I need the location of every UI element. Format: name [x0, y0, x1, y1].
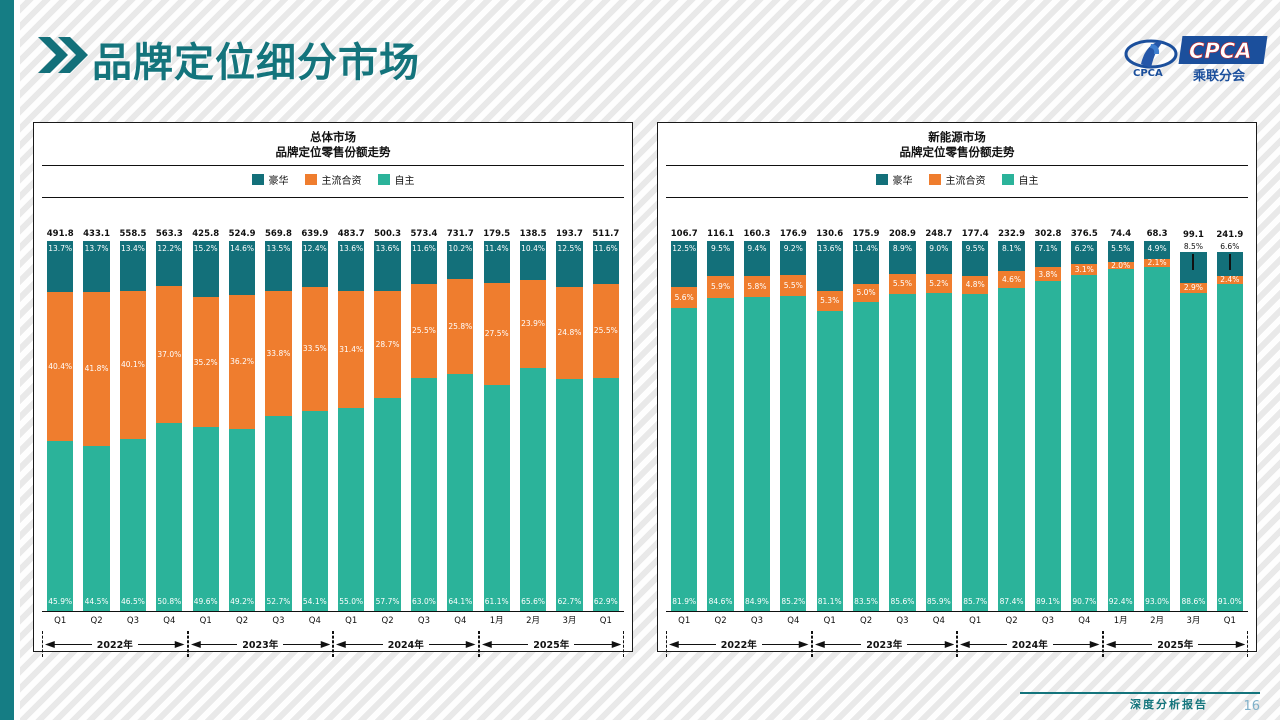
bar-segment-joint-venture[interactable]: 2.1%	[1144, 259, 1170, 267]
stacked-bar[interactable]: 13.7%41.8%44.5%	[83, 241, 109, 611]
x-axis-year-label: 2023年	[861, 637, 907, 651]
bar-segment-value: 63.0%	[412, 598, 436, 606]
legend-item-luxury[interactable]: 豪华	[876, 172, 913, 187]
bar-segment-joint-venture[interactable]: 5.5%	[889, 274, 915, 294]
stacked-bar[interactable]: 13.6%5.3%81.1%	[817, 241, 843, 611]
bar-segment-joint-venture[interactable]: 24.8%	[556, 287, 582, 379]
chart-legend-overall: 豪华 主流合资 自主	[34, 166, 632, 192]
bar-total-label: 302.8	[1034, 229, 1061, 239]
stacked-bar[interactable]: 2.9%88.6%	[1180, 252, 1206, 611]
bar-segment-luxury[interactable]: 7.1%	[1035, 241, 1061, 267]
x-tick-label: Q1	[333, 611, 369, 631]
bar-segment-value: 13.7%	[48, 245, 72, 253]
x-tick-label: Q4	[442, 611, 478, 631]
bar-segment-value: 44.5%	[85, 598, 109, 606]
bar-segment-value: 49.2%	[230, 598, 254, 606]
bar-segment-joint-venture[interactable]: 3.8%	[1035, 267, 1061, 281]
x-axis-year-label: 2024年	[383, 637, 429, 651]
bar-segment-domestic[interactable]: 62.7%	[556, 379, 582, 611]
bar-column: 433.113.7%41.8%44.5%	[78, 198, 114, 611]
bar-segment-value: 4.9%	[1148, 245, 1167, 253]
bar-segment-joint-venture[interactable]: 5.8%	[744, 276, 770, 297]
bar-segment-value: 8.1%	[1002, 245, 1021, 253]
label-leader-line	[1229, 254, 1231, 270]
x-axis-ticks: Q1Q2Q3Q4Q1Q2Q3Q4Q1Q2Q3Q41月2月3月Q1	[42, 611, 624, 631]
bar-column: 138.510.4%23.9%65.6%	[515, 198, 551, 611]
bar-segment-joint-venture[interactable]: 36.2%	[229, 295, 255, 429]
bar-segment-domestic[interactable]: 88.6%	[1180, 293, 1206, 611]
bar-segment-luxury[interactable]: 8.1%	[998, 241, 1024, 271]
stacked-bar[interactable]: 5.5%2.0%92.4%	[1108, 241, 1134, 611]
bar-total-label: 177.4	[962, 229, 989, 239]
bar-total-label: 138.5	[520, 229, 547, 239]
bar-segment-value: 88.6%	[1182, 598, 1206, 606]
bar-segment-domestic[interactable]: 46.5%	[120, 439, 146, 611]
bar-segment-domestic[interactable]: 85.9%	[926, 293, 952, 611]
bar-segment-value: 10.4%	[521, 245, 545, 253]
bar-column: 208.98.9%5.5%85.6%	[884, 198, 920, 611]
bar-segment-joint-venture[interactable]: 5.3%	[817, 291, 843, 311]
x-tick-label: Q1	[812, 611, 848, 631]
x-axis-nev: Q1Q2Q3Q4Q1Q2Q3Q4Q1Q2Q3Q41月2月3月Q1 2022年20…	[658, 611, 1256, 669]
stacked-bar[interactable]: 6.2%3.1%90.7%	[1071, 241, 1097, 611]
bar-column: 130.613.6%5.3%81.1%	[812, 198, 848, 611]
bar-segment-joint-venture[interactable]: 2.9%	[1180, 283, 1206, 293]
bar-segment-value: 9.5%	[966, 245, 985, 253]
left-accent-bar-inner	[14, 0, 20, 720]
bar-segment-value: 25.5%	[412, 327, 436, 335]
bar-total-label: 241.9	[1216, 230, 1243, 240]
bar-segment-value: 28.7%	[376, 341, 400, 349]
bar-segment-luxury[interactable]: 10.4%	[520, 241, 546, 279]
bar-segment-domestic[interactable]: 84.6%	[707, 298, 733, 611]
bar-segment-value: 25.8%	[448, 323, 472, 331]
left-accent-bar	[0, 0, 14, 720]
page-title: 品牌定位细分市场	[92, 30, 420, 88]
bar-segment-luxury[interactable]: 14.6%	[229, 241, 255, 295]
bar-total-label: 179.5	[483, 229, 510, 239]
bar-segment-luxury[interactable]: 13.6%	[338, 241, 364, 291]
stacked-bar[interactable]: 9.2%5.5%85.2%	[780, 241, 806, 611]
bar-total-label: 731.7	[447, 229, 474, 239]
bar-segment-joint-venture[interactable]: 5.2%	[926, 274, 952, 293]
bar-column: 232.98.1%4.6%87.4%	[993, 198, 1029, 611]
bar-segment-value: 33.5%	[303, 345, 327, 353]
legend-item-domestic[interactable]: 自主	[378, 172, 415, 187]
bar-segment-domestic[interactable]: 91.0%	[1217, 284, 1243, 611]
bar-segment-value: 91.0%	[1218, 598, 1242, 606]
bar-segment-value: 13.5%	[267, 245, 291, 253]
bar-segment-joint-venture[interactable]: 5.5%	[780, 275, 806, 295]
slide-footer: 深度分析报告 16	[0, 680, 1280, 720]
bar-total-label: 74.4	[1110, 229, 1131, 239]
x-tick-label: 3月	[1175, 611, 1211, 631]
legend-swatch-luxury	[252, 174, 264, 185]
bar-segment-domestic[interactable]: 90.7%	[1071, 275, 1097, 611]
bar-segment-domestic[interactable]: 54.1%	[302, 411, 328, 611]
bar-segment-luxury[interactable]	[1180, 252, 1206, 283]
bar-segment-value: 2.4%	[1220, 276, 1239, 284]
bar-column: 68.34.9%2.1%93.0%	[1139, 198, 1175, 611]
bar-segment-luxury[interactable]: 9.5%	[707, 241, 733, 276]
bar-segment-value: 89.1%	[1036, 598, 1060, 606]
x-tick-label: Q1	[42, 611, 78, 631]
bar-segment-luxury[interactable]: 13.6%	[817, 241, 843, 291]
bar-column: 176.99.2%5.5%85.2%	[775, 198, 811, 611]
bar-segment-value: 31.4%	[339, 346, 363, 354]
slide-header: 品牌定位细分市场 CPCA CPCA 乘联分会	[0, 0, 1280, 105]
stacked-bar[interactable]: 10.2%25.8%64.1%	[447, 241, 473, 611]
bar-column: 241.96.6%2.4%91.0%	[1212, 198, 1248, 611]
bar-column: 573.411.6%25.5%63.0%	[406, 198, 442, 611]
stacked-bar[interactable]: 11.4%5.0%83.5%	[853, 241, 879, 611]
bar-segment-domestic[interactable]: 64.1%	[447, 374, 473, 611]
bar-segment-joint-venture[interactable]: 4.6%	[998, 271, 1024, 288]
stacked-bar[interactable]: 13.4%40.1%46.5%	[120, 241, 146, 611]
bar-outside-label: 8.5%	[1184, 242, 1203, 251]
bar-segment-luxury[interactable]: 9.0%	[926, 241, 952, 274]
bar-segment-joint-venture[interactable]: 5.0%	[853, 284, 879, 303]
stacked-bar[interactable]: 4.9%2.1%93.0%	[1144, 241, 1170, 611]
x-axis-year-group: 2022年	[666, 631, 812, 657]
bar-segment-value: 85.9%	[927, 598, 951, 606]
x-tick-label: Q3	[406, 611, 442, 631]
bar-segment-domestic[interactable]: 81.9%	[671, 308, 697, 611]
bar-segment-domestic[interactable]: 63.0%	[411, 378, 437, 611]
bar-segment-joint-venture[interactable]: 35.2%	[193, 297, 219, 427]
bar-segment-joint-venture[interactable]: 25.8%	[447, 279, 473, 374]
bar-segment-value: 52.7%	[267, 598, 291, 606]
bar-total-label: 511.7	[592, 229, 619, 239]
bar-total-label: 376.5	[1071, 229, 1098, 239]
bar-segment-joint-venture[interactable]: 33.8%	[265, 291, 291, 416]
bar-segment-value: 85.6%	[891, 598, 915, 606]
bar-segment-joint-venture[interactable]: 28.7%	[374, 291, 400, 397]
x-tick-label: Q1	[1212, 611, 1248, 631]
bar-total-label: 160.3	[743, 229, 770, 239]
bar-segment-value: 9.0%	[929, 245, 948, 253]
bar-segment-luxury[interactable]: 9.2%	[780, 241, 806, 275]
x-axis-year-groups: 2022年2023年2024年2025年	[666, 631, 1248, 657]
bar-segment-domestic[interactable]: 85.2%	[780, 296, 806, 611]
stacked-bar[interactable]: 11.6%25.5%63.0%	[411, 241, 437, 611]
x-axis-year-groups: 2022年2023年2024年2025年	[42, 631, 624, 657]
bar-segment-value: 15.2%	[194, 245, 218, 253]
stacked-bar[interactable]: 8.1%4.6%87.4%	[998, 241, 1024, 611]
stacked-bar[interactable]: 8.9%5.5%85.6%	[889, 241, 915, 611]
x-tick-label: Q1	[588, 611, 624, 631]
bar-segment-joint-venture[interactable]: 25.5%	[411, 284, 437, 378]
bar-segment-luxury[interactable]: 6.2%	[1071, 241, 1097, 264]
bar-segment-value: 25.5%	[594, 327, 618, 335]
bar-segment-value: 33.8%	[267, 350, 291, 358]
x-tick-label: 1月	[479, 611, 515, 631]
stacked-bar[interactable]: 12.4%33.5%54.1%	[302, 241, 328, 611]
bar-column: 483.713.6%31.4%55.0%	[333, 198, 369, 611]
bar-total-label: 248.7	[925, 229, 952, 239]
bar-segment-domestic[interactable]: 85.7%	[962, 294, 988, 611]
x-axis-year-group: 2025年	[479, 631, 625, 657]
bar-segment-domestic[interactable]: 50.8%	[156, 423, 182, 611]
bar-segment-joint-venture[interactable]: 31.4%	[338, 291, 364, 407]
bar-column: 491.813.7%40.4%45.9%	[42, 198, 78, 611]
bar-segment-luxury[interactable]: 12.5%	[671, 241, 697, 287]
x-tick-label: Q4	[297, 611, 333, 631]
bar-segment-joint-venture[interactable]: 5.6%	[671, 287, 697, 308]
bar-segment-domestic[interactable]: 85.6%	[889, 294, 915, 611]
bar-segment-joint-venture[interactable]: 5.9%	[707, 276, 733, 298]
bar-segment-value: 50.8%	[157, 598, 181, 606]
bar-segment-luxury[interactable]: 11.4%	[853, 241, 879, 283]
x-axis-year-group: 2024年	[333, 631, 479, 657]
bar-segment-domestic[interactable]: 55.0%	[338, 408, 364, 612]
bar-segment-value: 14.6%	[230, 245, 254, 253]
bar-segment-joint-venture[interactable]: 23.9%	[520, 280, 546, 368]
chart-title-nev: 新能源市场 品牌定位零售份额走势	[658, 123, 1256, 160]
bar-segment-luxury[interactable]: 11.4%	[484, 241, 510, 283]
bar-segment-value: 5.6%	[675, 294, 694, 302]
bar-segment-value: 12.5%	[672, 245, 696, 253]
bar-segment-value: 5.2%	[929, 280, 948, 288]
bar-segment-value: 84.6%	[709, 598, 733, 606]
bar-segment-joint-venture[interactable]: 25.5%	[593, 284, 619, 378]
bar-segment-joint-venture[interactable]: 41.8%	[83, 292, 109, 447]
stacked-bar[interactable]: 11.4%27.5%61.1%	[484, 241, 510, 611]
svg-text:CPCA: CPCA	[1133, 68, 1163, 79]
legend-item-joint-venture[interactable]: 主流合资	[305, 172, 362, 187]
bar-segment-luxury[interactable]: 13.6%	[374, 241, 400, 291]
chart-panel-nev: 新能源市场 品牌定位零售份额走势 豪华 主流合资 自主 106.712.5%5.…	[657, 122, 1257, 652]
bar-segment-value: 6.2%	[1075, 245, 1094, 253]
bar-segment-domestic[interactable]: 62.9%	[593, 378, 619, 611]
bar-segment-domestic[interactable]: 57.7%	[374, 398, 400, 611]
bar-segment-domestic[interactable]: 65.6%	[520, 368, 546, 611]
bar-segment-domestic[interactable]: 45.9%	[47, 441, 73, 611]
bar-segment-domestic[interactable]: 92.4%	[1108, 269, 1134, 611]
x-tick-label: Q3	[115, 611, 151, 631]
legend-swatch-joint-venture	[929, 174, 941, 185]
legend-label-domestic: 自主	[395, 172, 415, 187]
stacked-bar[interactable]: 14.6%36.2%49.2%	[229, 241, 255, 611]
bar-segment-value: 3.8%	[1038, 271, 1057, 279]
bar-segment-value: 84.9%	[745, 598, 769, 606]
bar-segment-domestic[interactable]: 61.1%	[484, 385, 510, 611]
bar-segment-domestic[interactable]: 49.2%	[229, 429, 255, 611]
bar-segment-value: 35.2%	[194, 359, 218, 367]
bar-total-label: 193.7	[556, 229, 583, 239]
bar-segment-value: 27.5%	[485, 330, 509, 338]
bar-segment-value: 62.7%	[558, 598, 582, 606]
stacked-bar[interactable]: 13.5%33.8%52.7%	[265, 241, 291, 611]
bar-segment-luxury[interactable]: 11.6%	[411, 241, 437, 284]
stacked-bar[interactable]: 12.5%24.8%62.7%	[556, 241, 582, 611]
bar-segment-luxury[interactable]: 4.9%	[1144, 241, 1170, 259]
bar-segment-joint-venture[interactable]: 33.5%	[302, 287, 328, 411]
bar-column: 106.712.5%5.6%81.9%	[666, 198, 702, 611]
bar-total-label: 106.7	[671, 229, 698, 239]
bar-segment-joint-venture[interactable]: 2.4%	[1217, 276, 1243, 285]
bar-segment-value: 85.2%	[781, 598, 805, 606]
stacked-bar[interactable]: 13.6%28.7%57.7%	[374, 241, 400, 611]
bar-segment-value: 93.0%	[1145, 598, 1169, 606]
bar-column: 160.39.4%5.8%84.9%	[739, 198, 775, 611]
bar-column: 116.19.5%5.9%84.6%	[702, 198, 738, 611]
bar-segment-value: 62.9%	[594, 598, 618, 606]
svg-text:CPCA: CPCA	[1189, 39, 1251, 63]
bar-segment-joint-venture[interactable]: 2.0%	[1108, 262, 1134, 269]
bar-segment-value: 5.0%	[857, 289, 876, 297]
bar-segment-value: 4.6%	[1002, 276, 1021, 284]
bar-total-label: 558.5	[119, 229, 146, 239]
bar-segment-domestic[interactable]: 87.4%	[998, 288, 1024, 611]
svg-text:乘联分会: 乘联分会	[1192, 68, 1246, 84]
bar-segment-value: 55.0%	[339, 598, 363, 606]
bar-total-label: 569.8	[265, 229, 292, 239]
bar-segment-value: 13.6%	[339, 245, 363, 253]
bar-segment-luxury[interactable]: 5.5%	[1108, 241, 1134, 261]
bar-total-label: 232.9	[998, 229, 1025, 239]
bar-segment-value: 2.1%	[1148, 259, 1167, 267]
bar-total-label: 524.9	[229, 229, 256, 239]
bar-segment-value: 37.0%	[157, 351, 181, 359]
bar-column: 524.914.6%36.2%49.2%	[224, 198, 260, 611]
bar-segment-joint-venture[interactable]: 27.5%	[484, 283, 510, 385]
bar-segment-value: 11.4%	[485, 245, 509, 253]
bar-segment-value: 13.6%	[818, 245, 842, 253]
bar-segment-joint-venture[interactable]: 3.1%	[1071, 264, 1097, 275]
bar-column: 425.815.2%35.2%49.6%	[188, 198, 224, 611]
bar-segment-value: 90.7%	[1072, 598, 1096, 606]
bar-segment-luxury[interactable]: 8.9%	[889, 241, 915, 274]
bar-segment-luxury[interactable]: 10.2%	[447, 241, 473, 279]
bar-segment-value: 92.4%	[1109, 598, 1133, 606]
legend-swatch-joint-venture	[305, 174, 317, 185]
bar-segment-value: 13.7%	[85, 245, 109, 253]
stacked-bar[interactable]: 2.4%91.0%	[1217, 252, 1243, 611]
bar-segment-joint-venture[interactable]: 37.0%	[156, 286, 182, 423]
x-tick-label: 1月	[1103, 611, 1139, 631]
bar-segment-domestic[interactable]: 89.1%	[1035, 281, 1061, 611]
x-axis-overall: Q1Q2Q3Q4Q1Q2Q3Q4Q1Q2Q3Q41月2月3月Q1 2022年20…	[34, 611, 632, 669]
bar-segment-value: 5.5%	[1111, 245, 1130, 253]
stacked-bar[interactable]: 12.5%5.6%81.9%	[671, 241, 697, 611]
chart-title-overall: 总体市场 品牌定位零售份额走势	[34, 123, 632, 160]
bar-column: 563.312.2%37.0%50.8%	[151, 198, 187, 611]
x-tick-label: Q2	[848, 611, 884, 631]
x-tick-label: Q3	[260, 611, 296, 631]
bar-segment-domestic[interactable]: 83.5%	[853, 302, 879, 611]
bar-segment-luxury[interactable]: 11.6%	[593, 241, 619, 284]
bar-segment-value: 57.7%	[376, 598, 400, 606]
bar-segment-value: 85.7%	[963, 598, 987, 606]
x-tick-label: Q2	[224, 611, 260, 631]
x-axis-year-group: 2025年	[1103, 631, 1249, 657]
legend-item-joint-venture[interactable]: 主流合资	[929, 172, 986, 187]
stacked-bar[interactable]: 11.6%25.5%62.9%	[593, 241, 619, 611]
bar-segment-luxury[interactable]: 9.5%	[962, 241, 988, 276]
bar-segment-luxury[interactable]: 13.7%	[83, 241, 109, 292]
bar-total-label: 176.9	[780, 229, 807, 239]
stacked-bar[interactable]: 15.2%35.2%49.6%	[193, 241, 219, 611]
bar-segment-luxury[interactable]: 13.5%	[265, 241, 291, 291]
bar-segment-value: 11.6%	[412, 245, 436, 253]
bar-segment-luxury[interactable]: 12.2%	[156, 241, 182, 286]
stacked-bar[interactable]: 9.5%5.9%84.6%	[707, 241, 733, 611]
bar-segment-value: 13.4%	[121, 245, 145, 253]
x-tick-label: Q2	[702, 611, 738, 631]
legend-item-luxury[interactable]: 豪华	[252, 172, 289, 187]
footer-rule	[1020, 692, 1260, 694]
bar-segment-domestic[interactable]: 49.6%	[193, 427, 219, 611]
bar-segment-domestic[interactable]: 84.9%	[744, 297, 770, 611]
bar-segment-value: 11.4%	[854, 245, 878, 253]
chart-legend-nev: 豪华 主流合资 自主	[658, 166, 1256, 192]
stacked-bar[interactable]: 12.2%37.0%50.8%	[156, 241, 182, 611]
bar-total-label: 130.6	[816, 229, 843, 239]
bar-column: 177.49.5%4.8%85.7%	[957, 198, 993, 611]
x-tick-label: Q2	[993, 611, 1029, 631]
chart-panel-overall: 总体市场 品牌定位零售份额走势 豪华 主流合资 自主 491.813.7%40.…	[33, 122, 633, 652]
bar-segment-luxury[interactable]: 12.4%	[302, 241, 328, 287]
bar-segment-domestic[interactable]: 44.5%	[83, 446, 109, 611]
bar-segment-value: 5.9%	[711, 283, 730, 291]
legend-label-luxury: 豪华	[893, 172, 913, 187]
legend-item-domestic[interactable]: 自主	[1002, 172, 1039, 187]
stacked-bar[interactable]: 13.7%40.4%45.9%	[47, 241, 73, 611]
legend-label-joint-venture: 主流合资	[322, 172, 362, 187]
bar-segment-luxury[interactable]	[1217, 252, 1243, 276]
double-chevron-right-icon	[36, 35, 92, 75]
x-tick-label: 3月	[551, 611, 587, 631]
bar-segment-value: 46.5%	[121, 598, 145, 606]
bar-segment-joint-venture[interactable]: 40.1%	[120, 291, 146, 439]
bar-total-label: 433.1	[83, 229, 110, 239]
x-axis-year-group: 2023年	[812, 631, 958, 657]
bar-segment-domestic[interactable]: 93.0%	[1144, 267, 1170, 611]
stacked-bar[interactable]: 7.1%3.8%89.1%	[1035, 241, 1061, 611]
bar-segment-value: 2.9%	[1184, 284, 1203, 292]
bar-segment-value: 24.8%	[558, 329, 582, 337]
stacked-bar[interactable]: 9.0%5.2%85.9%	[926, 241, 952, 611]
x-tick-label: Q2	[369, 611, 405, 631]
bar-segment-value: 9.4%	[747, 245, 766, 253]
bar-segment-luxury[interactable]: 15.2%	[193, 241, 219, 297]
bar-segment-domestic[interactable]: 52.7%	[265, 416, 291, 611]
bar-segment-luxury[interactable]: 13.7%	[47, 241, 73, 292]
bar-total-label: 425.8	[192, 229, 219, 239]
bar-total-label: 639.9	[301, 229, 328, 239]
bar-segment-value: 10.2%	[448, 245, 472, 253]
bar-segment-luxury[interactable]: 13.4%	[120, 241, 146, 291]
bar-segment-luxury[interactable]: 12.5%	[556, 241, 582, 287]
bar-segment-domestic[interactable]: 81.1%	[817, 311, 843, 611]
bar-segment-luxury[interactable]: 9.4%	[744, 241, 770, 276]
bar-total-label: 491.8	[47, 229, 74, 239]
bar-segment-value: 8.9%	[893, 245, 912, 253]
stacked-bar[interactable]: 9.5%4.8%85.7%	[962, 241, 988, 611]
x-axis-ticks: Q1Q2Q3Q4Q1Q2Q3Q4Q1Q2Q3Q41月2月3月Q1	[666, 611, 1248, 631]
stacked-bar[interactable]: 13.6%31.4%55.0%	[338, 241, 364, 611]
bar-segment-joint-venture[interactable]: 4.8%	[962, 276, 988, 294]
stacked-bar[interactable]: 9.4%5.8%84.9%	[744, 241, 770, 611]
x-axis-year-label: 2022年	[92, 637, 138, 651]
x-tick-label: Q4	[151, 611, 187, 631]
bar-column: 99.18.5%2.9%88.6%	[1175, 198, 1211, 611]
bar-segment-joint-venture[interactable]: 40.4%	[47, 292, 73, 441]
stacked-bar[interactable]: 10.4%23.9%65.6%	[520, 241, 546, 611]
x-tick-label: Q3	[1030, 611, 1066, 631]
bar-total-label: 573.4	[410, 229, 437, 239]
